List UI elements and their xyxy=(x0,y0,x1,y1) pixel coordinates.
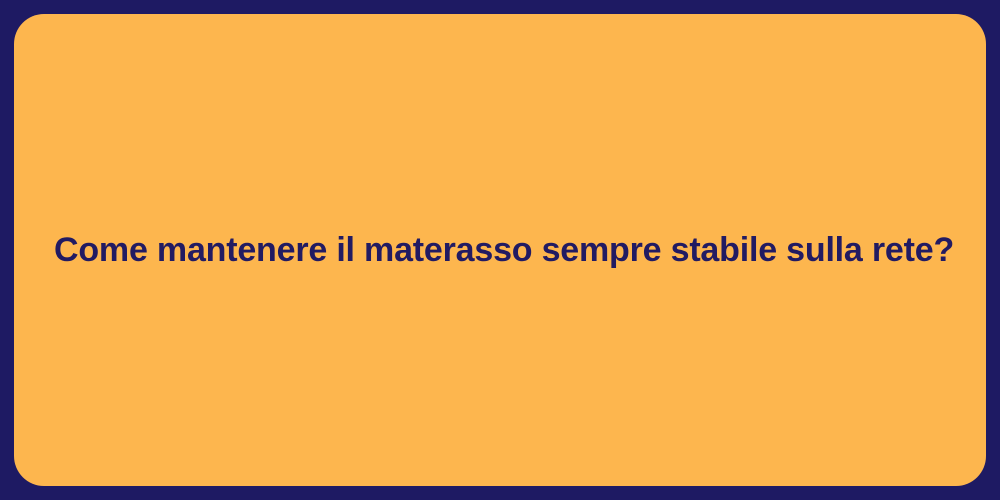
content-card: Come mantenere il materasso sempre stabi… xyxy=(14,14,986,486)
page-title: Come mantenere il materasso sempre stabi… xyxy=(54,228,946,272)
page-frame: Come mantenere il materasso sempre stabi… xyxy=(0,0,1000,500)
heading-block: Come mantenere il materasso sempre stabi… xyxy=(54,228,946,272)
